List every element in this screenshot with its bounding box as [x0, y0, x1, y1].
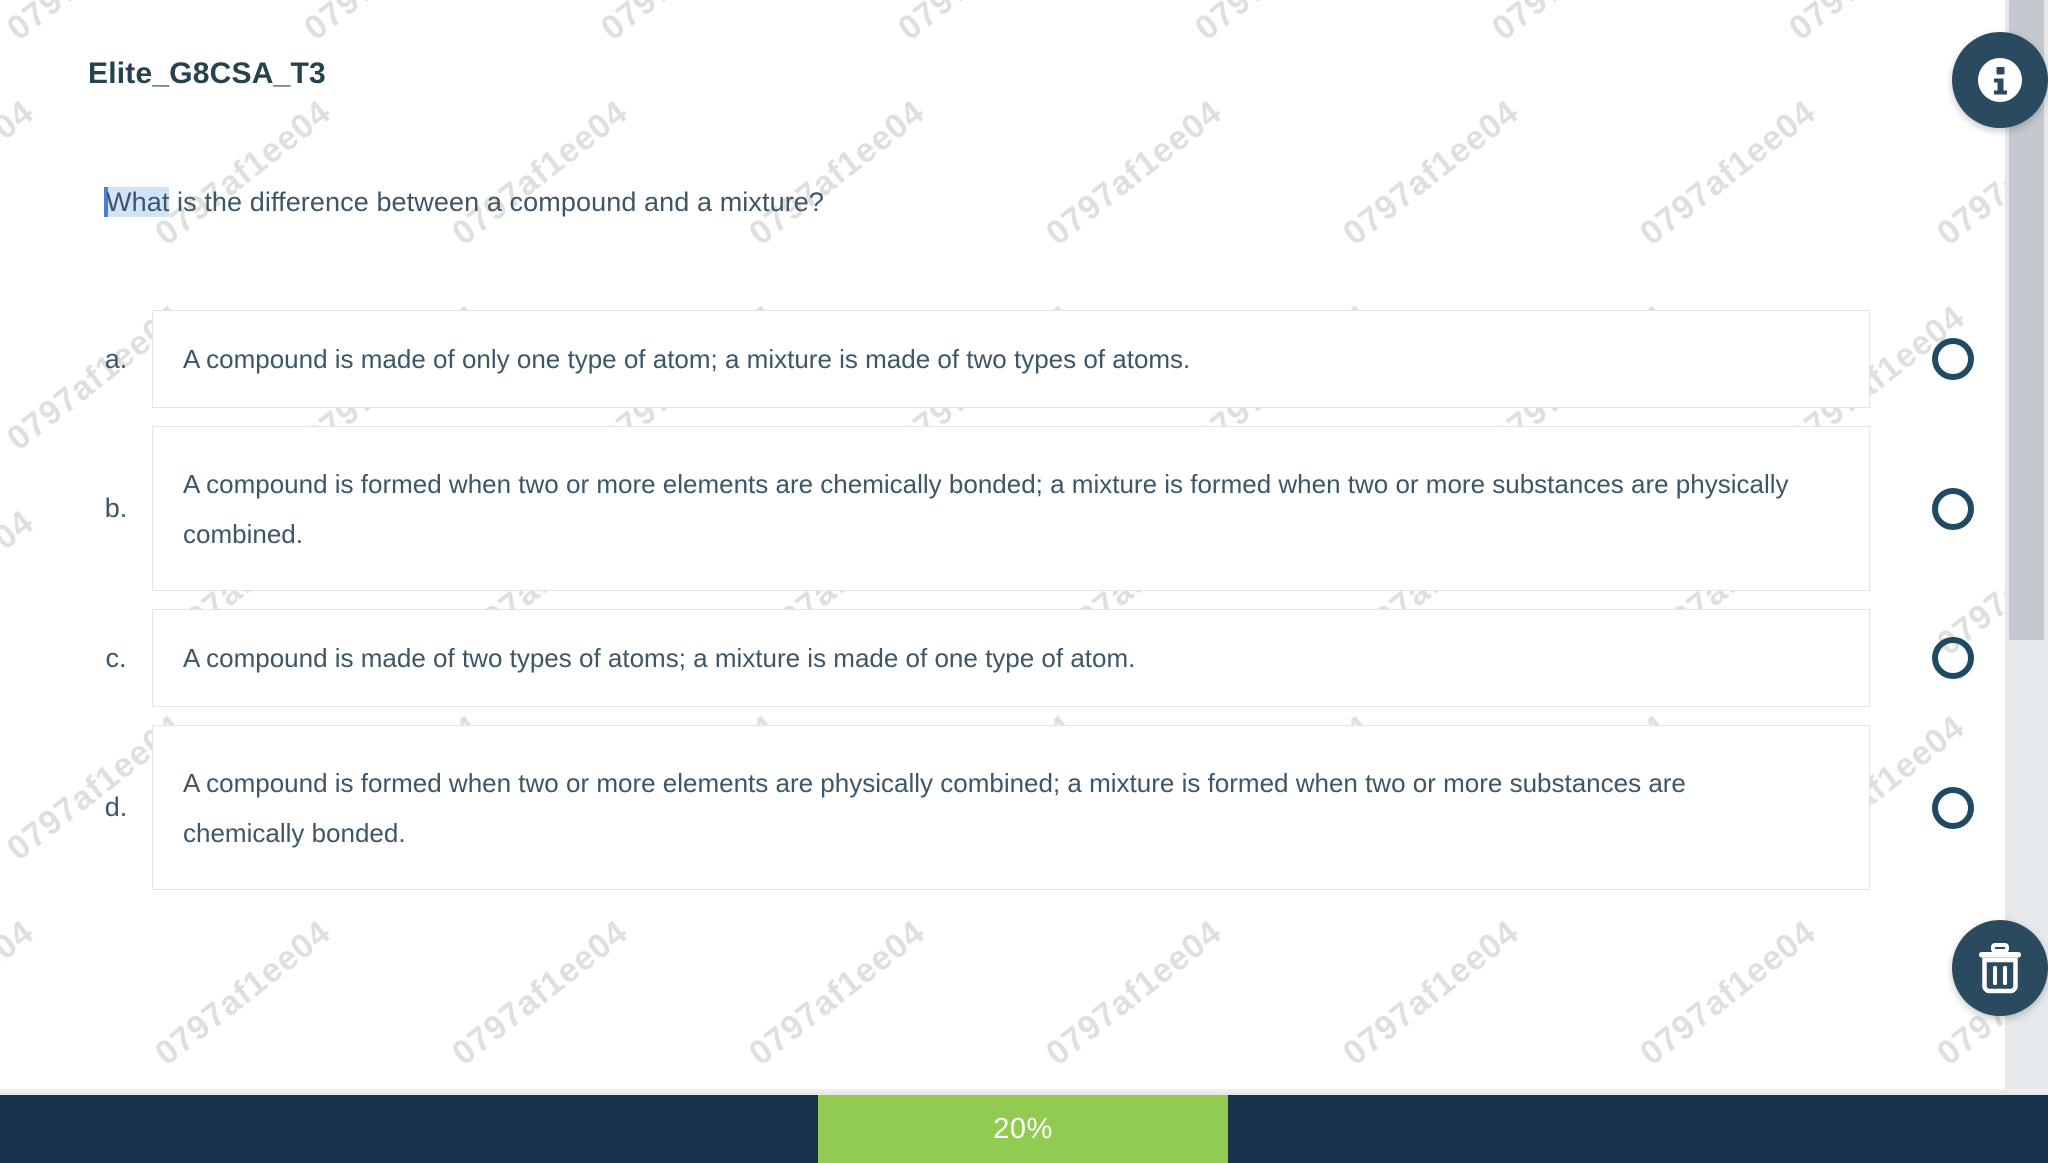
option-text-a: A compound is made of only one type of a…	[153, 334, 1230, 384]
radio-button-a[interactable]	[1932, 338, 1974, 380]
option-box-a[interactable]: A compound is made of only one type of a…	[152, 310, 1870, 408]
page-title: Elite_G8CSA_T3	[88, 57, 326, 91]
option-text-d: A compound is formed when two or more el…	[153, 758, 1853, 858]
option-row-b[interactable]: b. A compound is formed when two or more…	[0, 426, 2005, 591]
radio-button-d[interactable]	[1932, 787, 1974, 829]
option-letter-d: d.	[80, 792, 152, 823]
options-list: a. A compound is made of only one type o…	[0, 310, 2005, 908]
option-text-b: A compound is formed when two or more el…	[153, 459, 1853, 559]
option-row-d[interactable]: d. A compound is formed when two or more…	[0, 725, 2005, 890]
info-button[interactable]	[1952, 32, 2048, 128]
progress-label: 20%	[993, 1113, 1053, 1146]
option-box-d[interactable]: A compound is formed when two or more el…	[152, 725, 1870, 890]
quiz-page: 0797af1ee040797af1ee040797af1ee040797af1…	[0, 0, 2048, 1163]
option-letter-b: b.	[80, 493, 152, 524]
radio-button-c[interactable]	[1932, 637, 1974, 679]
trash-icon	[1974, 940, 2026, 996]
option-letter-a: a.	[80, 344, 152, 375]
option-box-c[interactable]: A compound is made of two types of atoms…	[152, 609, 1870, 707]
option-text-c: A compound is made of two types of atoms…	[153, 633, 1175, 683]
radio-button-b[interactable]	[1932, 488, 1974, 530]
option-box-b[interactable]: A compound is formed when two or more el…	[152, 426, 1870, 591]
question-remainder: is the difference between a compound and…	[169, 187, 824, 217]
question-text: What is the difference between a compoun…	[106, 187, 824, 218]
progress-fill: 20%	[818, 1095, 1228, 1163]
delete-button[interactable]	[1952, 920, 2048, 1016]
selected-word: What	[106, 187, 169, 217]
progress-bar: 20%	[0, 1095, 2048, 1163]
info-icon	[1972, 52, 2028, 108]
quiz-content: Elite_G8CSA_T3 What is the difference be…	[0, 0, 2005, 1135]
option-row-a[interactable]: a. A compound is made of only one type o…	[0, 310, 2005, 408]
option-row-c[interactable]: c. A compound is made of two types of at…	[0, 609, 2005, 707]
option-letter-c: c.	[80, 643, 152, 674]
